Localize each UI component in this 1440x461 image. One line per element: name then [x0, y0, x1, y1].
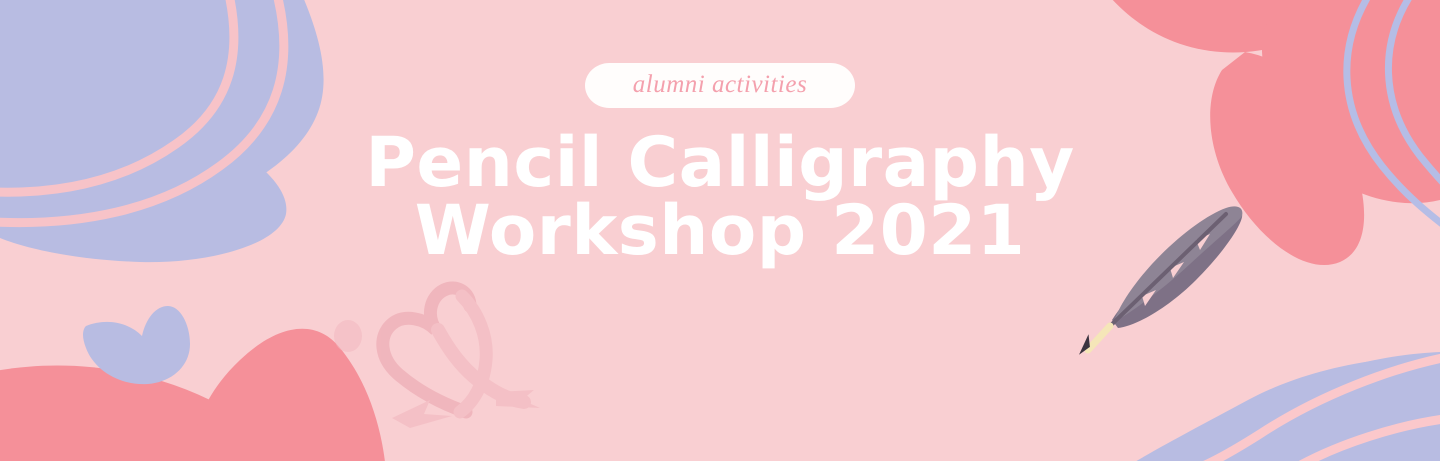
page-title-line-1: Pencil Calligraphy: [365, 129, 1074, 197]
banner-card: alumni activities Pencil Calligraphy Wor…: [0, 0, 1440, 461]
badge-alumni-activities: alumni activities: [585, 63, 855, 108]
page-title-line-2: Workshop 2021: [365, 197, 1074, 265]
page-title: Pencil Calligraphy Workshop 2021: [365, 129, 1074, 266]
banner-content: alumni activities Pencil Calligraphy Wor…: [0, 0, 1440, 461]
